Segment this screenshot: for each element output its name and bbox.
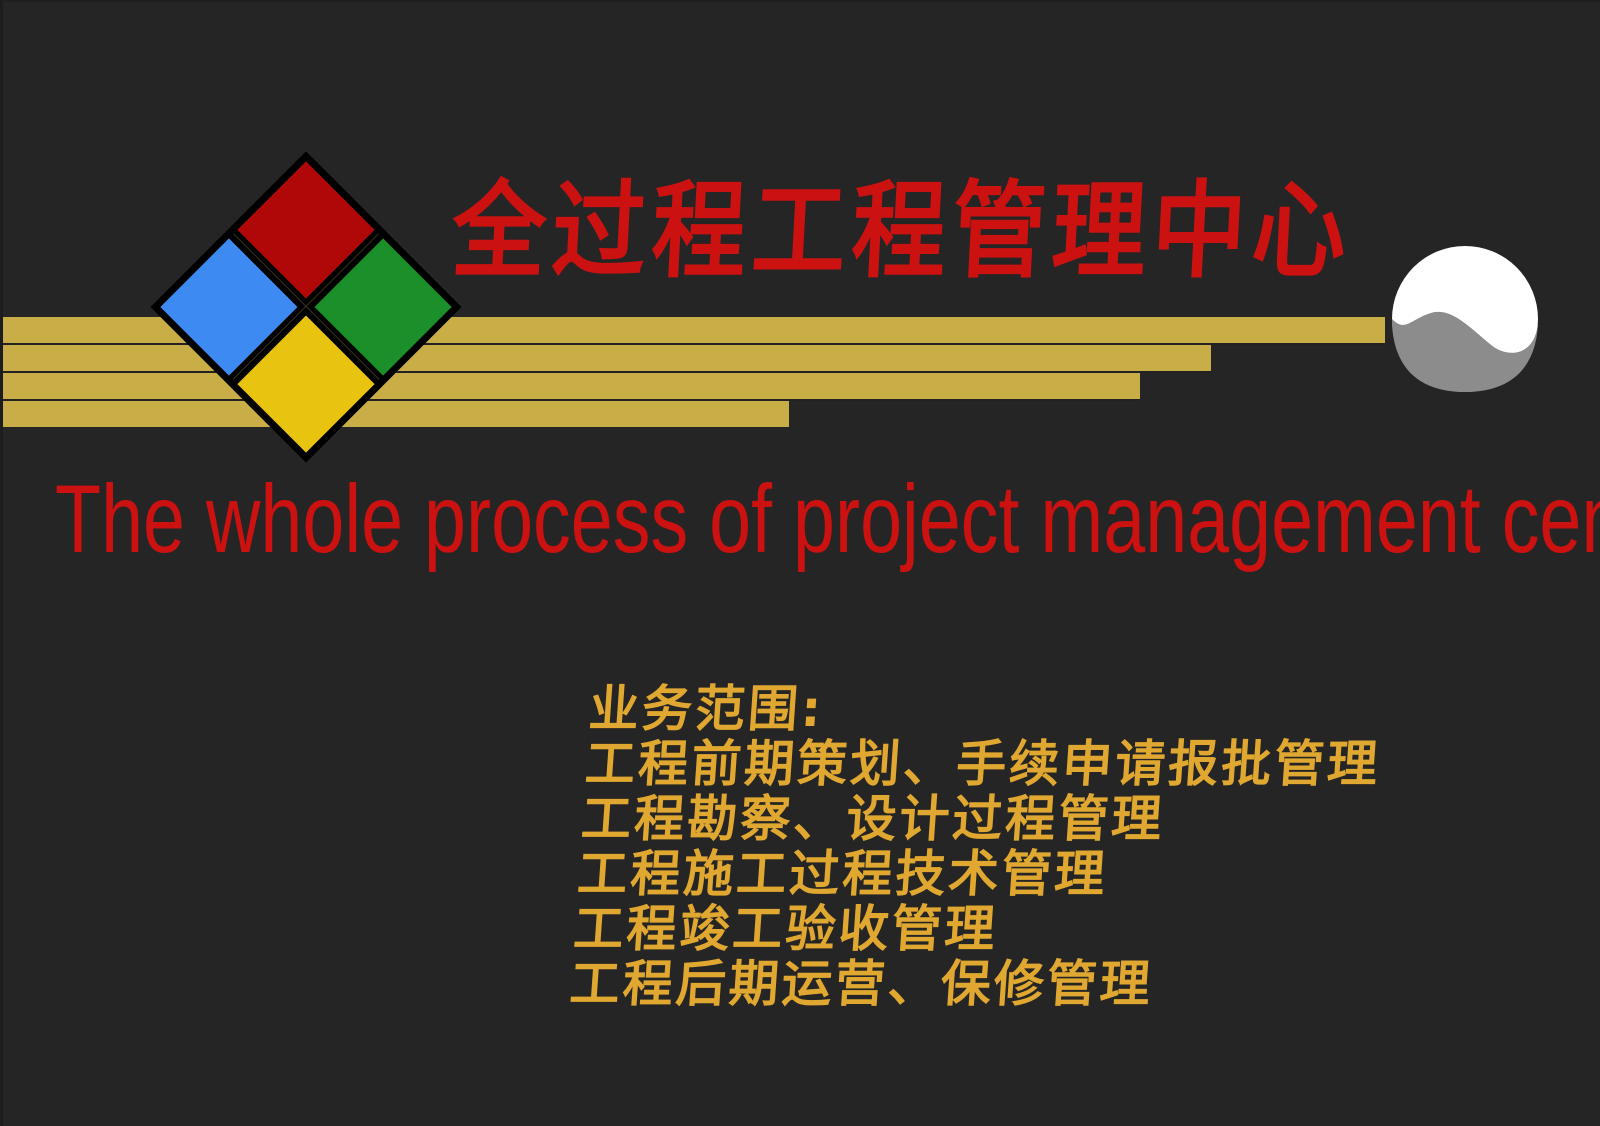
presentation-slide: 全过程工程管理中心 The whole process of project m… [0, 0, 1600, 1126]
business-scope-item-3: 工程施工过程技术管理 [576, 847, 1540, 902]
slide-title-english: The whole process of project management … [55, 472, 1435, 569]
business-scope-item-4: 工程竣工验收管理 [572, 902, 1536, 957]
yin-yang-circle [1391, 245, 1539, 393]
business-scope-item-2: 工程勘察、设计过程管理 [579, 792, 1543, 847]
business-scope-item-1: 工程前期策划、手续申请报批管理 [583, 737, 1547, 792]
business-scope-heading: 业务范围: [587, 682, 1551, 737]
slide-title-chinese: 全过程工程管理中心 [449, 178, 1355, 287]
diamond-outline [150, 151, 461, 462]
business-scope-item-5: 工程后期运营、保修管理 [568, 957, 1532, 1012]
business-scope-block: 业务范围: 工程前期策划、手续申请报批管理 工程勘察、设计过程管理 工程施工过程… [568, 682, 1551, 1012]
four-color-diamond-logo [151, 152, 461, 462]
